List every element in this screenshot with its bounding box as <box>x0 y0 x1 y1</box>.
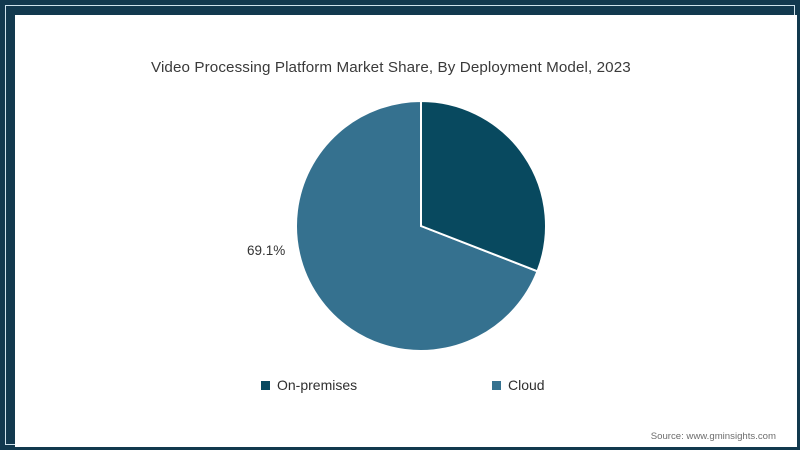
chart-title: Video Processing Platform Market Share, … <box>151 59 631 76</box>
legend-swatch-icon-on-premises <box>261 381 270 390</box>
legend-swatch-icon-cloud <box>492 381 501 390</box>
source-attribution: Source: www.gminsights.com <box>651 431 776 442</box>
chart-frame-border: Video Processing Platform Market Share, … <box>0 0 800 450</box>
pie-chart <box>296 101 546 351</box>
legend-item-on-premises[interactable]: On-premises <box>261 374 357 396</box>
legend-label-on-premises: On-premises <box>277 377 357 393</box>
chart-legend: On-premises Cloud <box>261 374 581 396</box>
chart-canvas: Video Processing Platform Market Share, … <box>15 15 797 447</box>
chart-frame-inner-line: Video Processing Platform Market Share, … <box>5 5 795 445</box>
legend-item-cloud[interactable]: Cloud <box>492 374 545 396</box>
pie-data-label-cloud: 69.1% <box>247 243 285 258</box>
legend-label-cloud: Cloud <box>508 377 545 393</box>
pie-chart-svg <box>296 101 546 351</box>
